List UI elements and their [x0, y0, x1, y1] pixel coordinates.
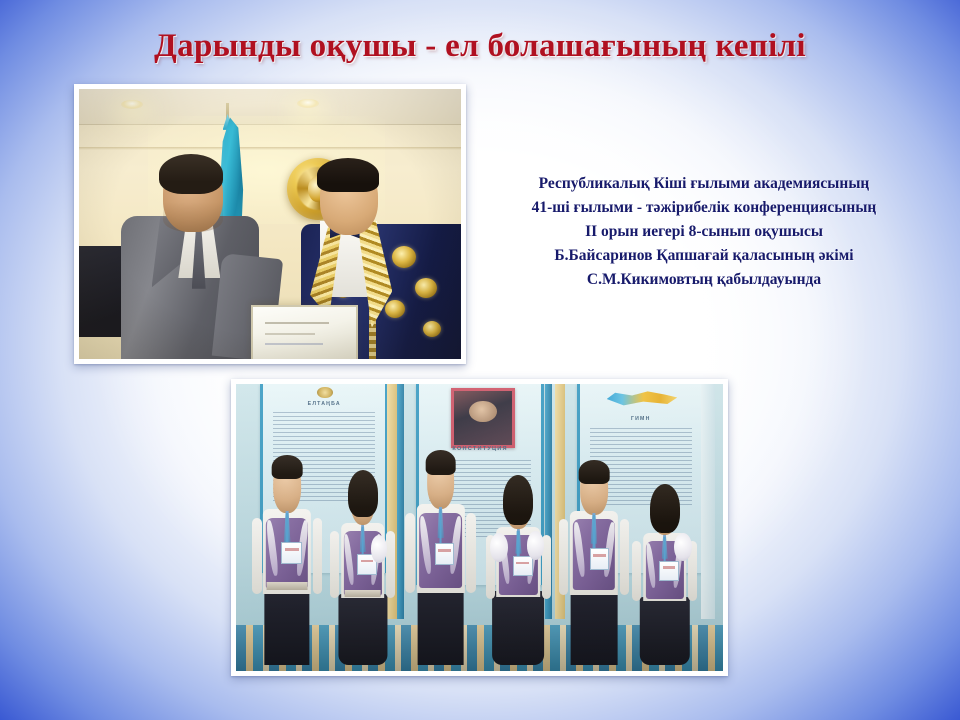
caption-line: Республикалық Кіші ғылыми академиясының: [478, 172, 930, 196]
photo-sheen: [236, 384, 723, 671]
hair-bow-icon: [527, 531, 545, 560]
belt: [267, 582, 308, 590]
id-badge: [435, 543, 455, 565]
lanyard: [286, 513, 289, 544]
caption-line: С.М.Кикимовтың қабылдауында: [478, 268, 930, 292]
hair-bow-icon: [490, 533, 508, 562]
award-ceremony-photo: [74, 84, 466, 364]
lanyard: [439, 509, 442, 543]
slide-canvas: Дарынды оқушы - ел болашағының кепілі: [0, 0, 960, 720]
caption-line: Б.Байсаринов Қапшағай қаласының әкімі: [478, 244, 930, 268]
belt: [344, 590, 381, 597]
caption-block: Республикалық Кіші ғылыми академиясының …: [478, 172, 930, 292]
lanyard: [592, 515, 595, 548]
id-badge: [590, 548, 610, 570]
lanyard: [361, 527, 364, 556]
hair-bow-icon: [371, 535, 387, 562]
page-title: Дарынды оқушы - ел болашағының кепілі: [0, 28, 960, 65]
id-badge: [281, 542, 302, 564]
caption-line: 41-ші ғылыми - тәжірибелік конференциясы…: [478, 196, 930, 220]
students-group-photo: ЕЛТАҢБА КОНСТИТУЦИЯ ГИМН: [231, 379, 728, 676]
photo-vignette: [79, 89, 461, 359]
hair-bow-icon: [674, 533, 692, 561]
lanyard: [517, 531, 520, 558]
lanyard: [663, 537, 666, 563]
id-badge: [513, 556, 533, 577]
caption-line: II орын иегері 8-сынып оқушысы: [478, 220, 930, 244]
id-badge: [659, 561, 679, 581]
